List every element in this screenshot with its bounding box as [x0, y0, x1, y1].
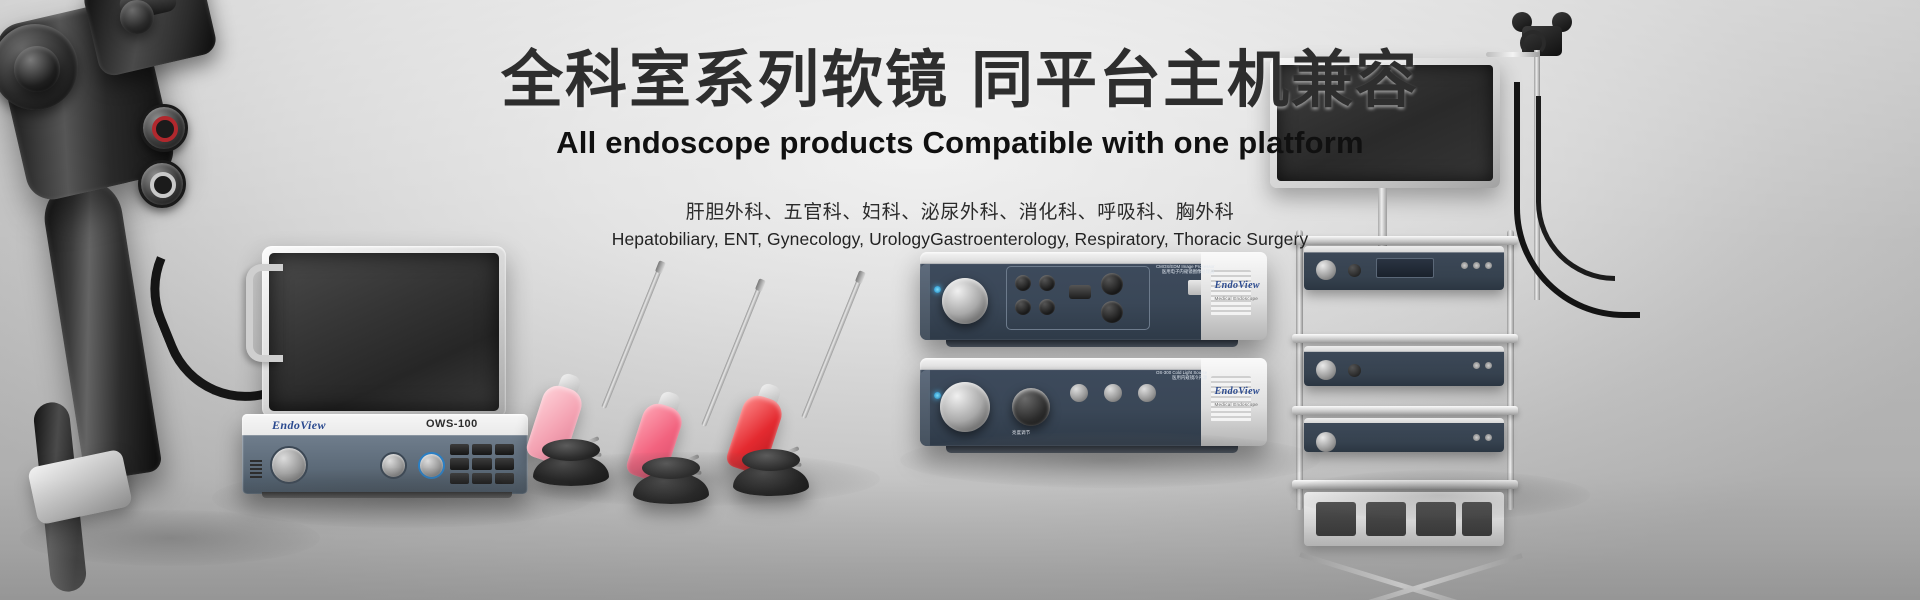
cart-unit-button — [1485, 362, 1492, 369]
cart-shelf — [1292, 480, 1518, 489]
light-source-scope-port — [940, 382, 990, 432]
cart-unit-button — [1473, 262, 1480, 269]
cart-accessory-module — [1462, 502, 1492, 536]
processor-scope-port — [942, 278, 988, 324]
cart-unit-buttons — [1461, 262, 1492, 269]
cart-unit-port — [1316, 432, 1336, 452]
cart-unit-button — [1485, 262, 1492, 269]
cart-rail-left — [1296, 230, 1303, 510]
headline-part-2: 同平台主机兼容 — [971, 46, 1419, 115]
light-source-feet — [946, 446, 1238, 453]
cart-unit-display — [1376, 258, 1434, 278]
subheadline-english: All endoscope products Compatible with o… — [0, 125, 1920, 161]
processor-power-led — [934, 286, 941, 293]
processor-control-panel — [1006, 266, 1150, 330]
cart-rail-right — [1507, 230, 1514, 510]
light-source-button-row — [1070, 384, 1156, 402]
cart-shelf — [1292, 406, 1518, 415]
cart-accessory-tray — [1304, 492, 1504, 546]
console-port-secondary — [380, 452, 407, 479]
processor-model-cn: 医用电子内窥镜图像处理器 — [1156, 269, 1215, 275]
console-brand-logo: EndoView — [272, 418, 326, 433]
cart-unit-knob — [1348, 364, 1361, 377]
headline-part-1: 全科室系列软镜 — [501, 46, 949, 115]
light-source-dial-label: 亮度调节 — [1012, 430, 1030, 436]
light-source-model-cn: 医用内窥镜冷光源 — [1156, 375, 1207, 381]
processor-button-large — [1101, 301, 1123, 323]
processor-brand-logo: EndoView — [1215, 280, 1260, 291]
processor-brand-text: EndoView — [1215, 280, 1260, 291]
light-source-button-panel — [1070, 380, 1190, 426]
cart-unit-button — [1461, 262, 1468, 269]
keypad-key — [472, 444, 491, 455]
cart-unit-top — [1304, 246, 1504, 290]
keypad-key — [472, 473, 491, 484]
console-vent — [250, 460, 262, 478]
processor-button-large — [1101, 273, 1123, 295]
cart-unit-middle — [1304, 346, 1504, 386]
cart-accessory-module — [1316, 502, 1356, 536]
console-port-highlighted — [418, 452, 445, 479]
processor-feet — [946, 340, 1238, 347]
console-brand-text: EndoView — [272, 418, 326, 432]
keypad-key — [472, 458, 491, 469]
endoscope-lock-knob — [120, 0, 154, 34]
cart-unit-lower — [1304, 418, 1504, 452]
cart-unit-button — [1473, 362, 1480, 369]
instrument-shaft — [801, 278, 862, 419]
processor-brand-sub: Medical Endoscope — [1215, 296, 1259, 301]
light-source-model-text: OS-300 Cold Light Source 医用内窥镜冷光源 — [1156, 370, 1207, 381]
console-foot — [262, 492, 512, 498]
cart-unit-port — [1316, 260, 1336, 280]
light-source-button — [1070, 384, 1088, 402]
console-monitor — [262, 246, 506, 418]
console-model-label: OWS-100 — [426, 418, 478, 430]
processor-button — [1015, 275, 1031, 291]
light-source-brightness-dial — [1012, 388, 1050, 426]
cart-unit-buttons — [1473, 362, 1492, 369]
light-source-brand-text: EndoView — [1215, 386, 1260, 397]
processor-button — [1015, 299, 1031, 315]
cart-unit-button — [1473, 434, 1480, 441]
page-title: 全科室系列软镜同平台主机兼容 — [0, 46, 1920, 115]
light-source-brand-sub: Medical Endoscope — [1215, 402, 1259, 407]
cold-light-source-unit: 亮度调节 OS-300 Cold Light Source 医用内窥镜冷光源 E… — [920, 358, 1266, 446]
light-source-left-edge — [920, 370, 930, 446]
cart-unit-button — [1485, 434, 1492, 441]
console-carry-handle — [246, 264, 283, 362]
keypad-key — [450, 458, 469, 469]
keypad-key — [450, 444, 469, 455]
processor-button — [1039, 275, 1055, 291]
laparoscopic-grasper-red — [705, 268, 835, 498]
console-scope-port — [270, 446, 308, 484]
cart-accessory-module — [1366, 502, 1406, 536]
cart-frame — [1296, 230, 1514, 510]
cart-unit-port — [1316, 360, 1336, 380]
processor-stack: CMOS/EDM Image Processor 医用电子内窥镜图像处理器 En… — [920, 252, 1280, 452]
processor-display-window — [1069, 285, 1091, 299]
light-source-brand-logo: EndoView — [1215, 386, 1260, 397]
keypad-key — [450, 473, 469, 484]
cart-accessory-module — [1416, 502, 1456, 536]
processor-model-text: CMOS/EDM Image Processor 医用电子内窥镜图像处理器 — [1156, 264, 1215, 275]
departments-chinese: 肝胆外科、五官科、妇科、泌尿外科、消化科、呼吸科、胸外科 — [0, 197, 1920, 224]
departments-english: Hepatobiliary, ENT, Gynecology, UrologyG… — [0, 229, 1920, 250]
cart-cross-brace — [1300, 552, 1512, 600]
cart-unit-buttons — [1473, 434, 1492, 441]
processor-left-edge — [920, 264, 930, 340]
endoscopy-product-banner: EndoView OWS-100 — [0, 0, 1920, 600]
processor-button — [1039, 299, 1055, 315]
light-source-power-led — [934, 392, 941, 399]
cart-unit-knob — [1348, 264, 1361, 277]
banner-text-block: 全科室系列软镜同平台主机兼容 All endoscope products Co… — [0, 46, 1920, 250]
light-source-button — [1104, 384, 1122, 402]
cart-shelf — [1292, 334, 1518, 343]
light-source-button — [1138, 384, 1156, 402]
image-processor-unit: CMOS/EDM Image Processor 医用电子内窥镜图像处理器 En… — [920, 252, 1266, 340]
console-monitor-screen — [269, 253, 499, 411]
